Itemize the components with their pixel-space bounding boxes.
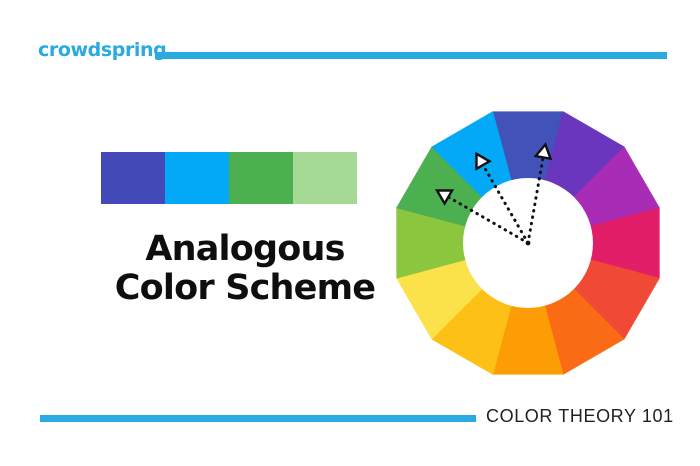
color-wheel (392, 107, 664, 379)
slide-header: crowdspring (0, 0, 700, 100)
color-swatch-strip (101, 152, 357, 204)
footer-divider-rule (40, 415, 476, 422)
slide-canvas: crowdspring Analogous Color Scheme COLOR… (0, 0, 700, 466)
crowdspring-logo[interactable]: crowdspring (38, 41, 166, 60)
swatch-indigo-blue (101, 152, 165, 204)
swatch-green (229, 152, 293, 204)
header-divider-rule (155, 52, 667, 59)
page-title-line-1: Analogous (95, 230, 395, 269)
color-wheel-svg (392, 107, 664, 379)
swatch-cyan-blue (165, 152, 229, 204)
swatch-light-green (293, 152, 357, 204)
footer-series-label: COLOR THEORY 101 (486, 406, 674, 427)
page-title-line-2: Color Scheme (95, 269, 395, 308)
color-wheel-pointer-origin-dot (526, 241, 531, 246)
page-title: Analogous Color Scheme (95, 230, 395, 308)
slide-footer: COLOR THEORY 101 (0, 400, 700, 466)
